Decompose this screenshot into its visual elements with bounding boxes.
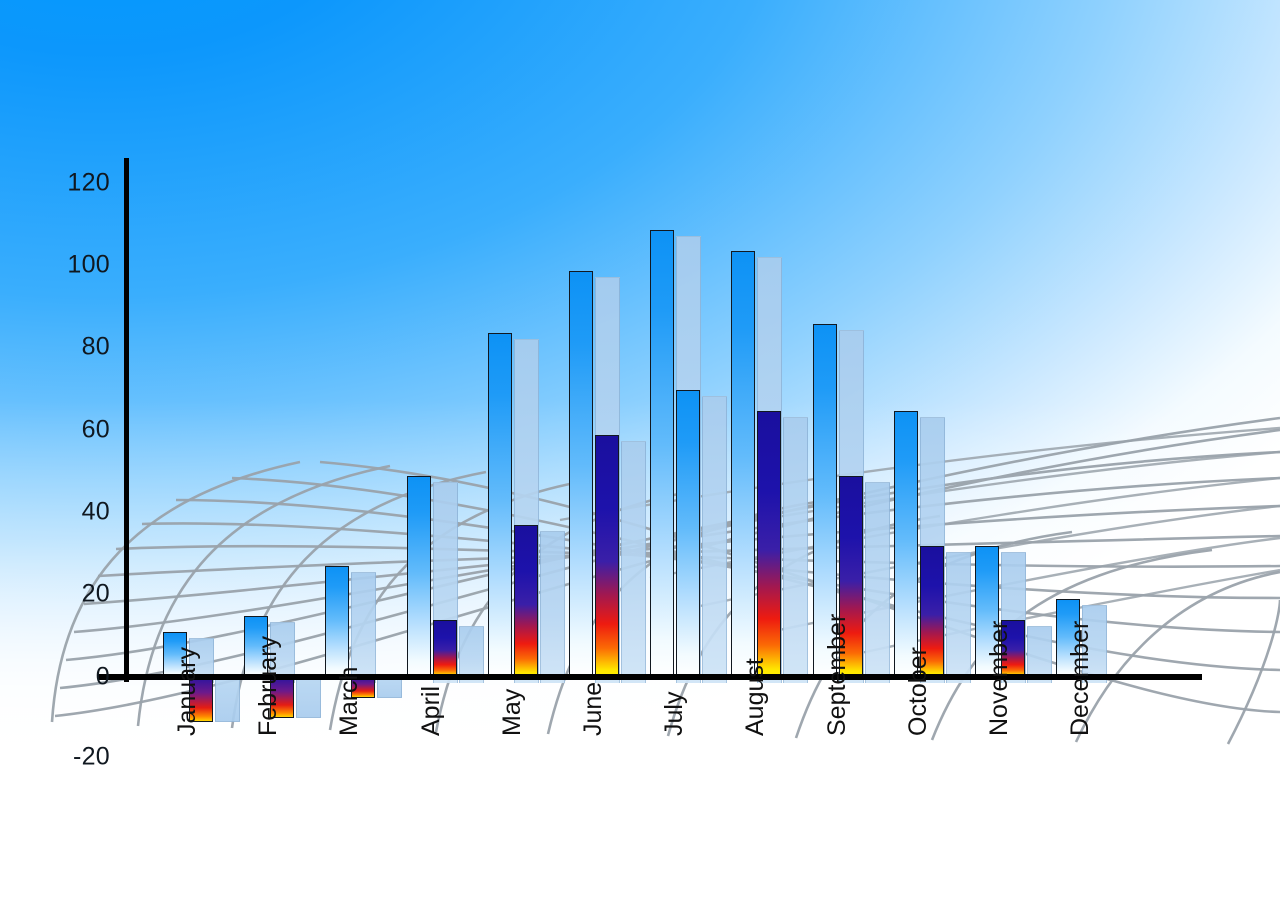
bar-march-series1 (325, 566, 349, 677)
bar-october-series1 (894, 411, 918, 678)
x-label-february: February (254, 636, 283, 736)
x-label-august: August (741, 658, 770, 736)
x-label-april: April (417, 686, 446, 736)
y-tick-100: 100 (67, 251, 110, 280)
y-tick-20: 20 (82, 580, 110, 609)
y-axis-tick-labels: 120 100 80 60 40 20 0 -20 (0, 0, 110, 905)
bar-shadow-february-series2 (296, 677, 321, 718)
y-tick-80: 80 (82, 333, 110, 362)
bar-shadow-september-series2 (865, 482, 890, 683)
chart-canvas: 120 100 80 60 40 20 0 -20 JanuaryFebruar… (0, 0, 1280, 905)
x-label-march: March (335, 667, 364, 736)
x-label-june: June (579, 682, 608, 736)
bar-shadow-july-series2 (702, 396, 727, 683)
x-label-january: January (173, 647, 202, 736)
bar-april-series1 (407, 476, 431, 677)
x-label-october: October (904, 647, 933, 736)
bar-shadow-may-series2 (540, 531, 565, 683)
y-tick-neg20: -20 (73, 743, 110, 772)
bar-shadow-october-series2 (946, 552, 971, 683)
bar-june-series2 (595, 435, 619, 677)
bars-layer: JanuaryFebruaryMarchAprilMayJuneJulyAugu… (0, 0, 1280, 905)
bar-shadow-january-series2 (215, 677, 240, 722)
bar-may-series2 (514, 525, 538, 677)
x-label-july: July (660, 692, 689, 736)
bar-june-series1 (569, 271, 593, 677)
bar-august-series1 (731, 251, 755, 677)
x-label-december: December (1066, 621, 1095, 736)
y-tick-40: 40 (82, 498, 110, 527)
x-label-september: September (823, 614, 852, 736)
bar-shadow-march-series2 (377, 677, 402, 698)
bar-april-series2 (433, 620, 457, 677)
x-label-may: May (498, 689, 527, 736)
y-axis-line (124, 158, 129, 682)
bar-may-series1 (488, 333, 512, 677)
x-label-november: November (985, 621, 1014, 736)
y-tick-60: 60 (82, 416, 110, 445)
y-tick-120: 120 (67, 169, 110, 198)
bar-july-series1 (650, 230, 674, 677)
bar-august-series2 (757, 411, 781, 678)
y-tick-0: 0 (96, 663, 110, 692)
bar-shadow-august-series2 (783, 417, 808, 684)
bar-shadow-june-series2 (621, 441, 646, 683)
bar-july-series2 (676, 390, 700, 677)
